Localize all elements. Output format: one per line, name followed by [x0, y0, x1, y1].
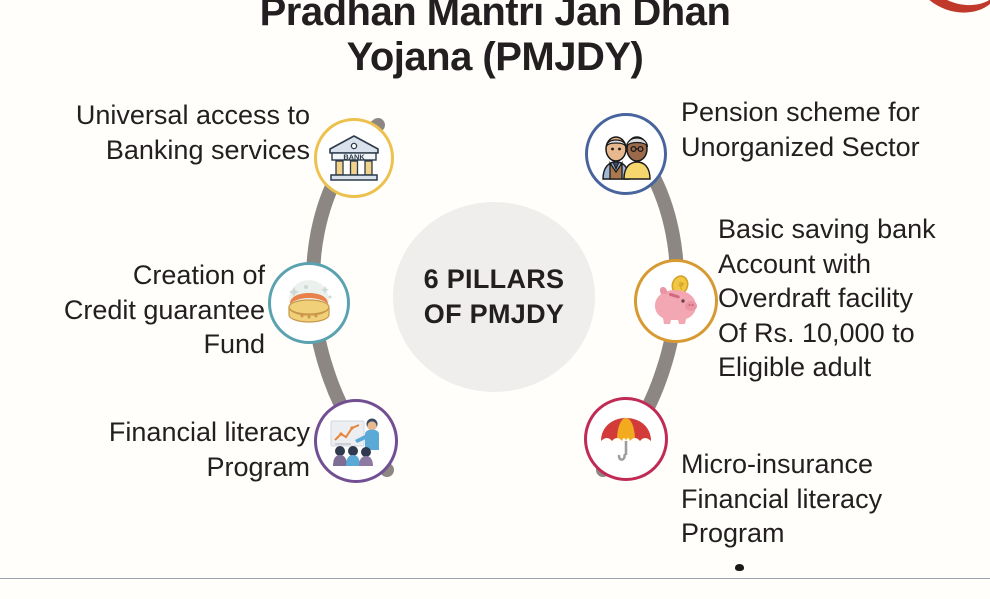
pillar-label-universal-access: Universal access to Banking services [0, 98, 310, 167]
pillar-icon-universal-access[interactable]: BANK [314, 118, 394, 198]
pillar-label-pension-scheme: Pension scheme for Unorganized Sector [681, 95, 990, 164]
bottom-speck [735, 564, 744, 571]
pillar-icon-financial-literacy[interactable] [314, 399, 398, 483]
coin-pot-icon [280, 274, 338, 332]
pillar-label-micro-insurance: Micro-insurance Financial literacy Progr… [681, 447, 990, 551]
pillar-label-financial-literacy: Financial literacy Program [0, 415, 310, 484]
bottom-divider [0, 578, 990, 579]
pillar-icon-micro-insurance[interactable] [584, 397, 668, 481]
pillar-icon-pension-scheme[interactable] [585, 113, 667, 195]
pillar-label-basic-saving-account: Basic saving bank Account with Overdraft… [718, 212, 990, 385]
svg-text:BANK: BANK [343, 152, 365, 161]
infographic-canvas: Pradhan Mantri Jan Dhan Yojana (PMJDY) 6… [0, 0, 990, 599]
center-label: 6 PILLARS OF PMJDY [424, 262, 565, 331]
pillar-label-credit-guarantee: Creation of Credit guarantee Fund [0, 258, 265, 362]
bank-icon: BANK [326, 130, 382, 186]
piggy-bank-icon: ₹ [647, 272, 705, 330]
pillar-icon-basic-saving-account[interactable]: ₹ [634, 259, 718, 343]
page-title: Pradhan Mantri Jan Dhan Yojana (PMJDY) [0, 0, 990, 80]
pillar-icon-credit-guarantee[interactable] [268, 262, 350, 344]
elderly-couple-icon [597, 125, 655, 183]
umbrella-icon [597, 410, 655, 468]
center-circle: 6 PILLARS OF PMJDY [393, 202, 595, 392]
presentation-training-icon [327, 412, 385, 470]
